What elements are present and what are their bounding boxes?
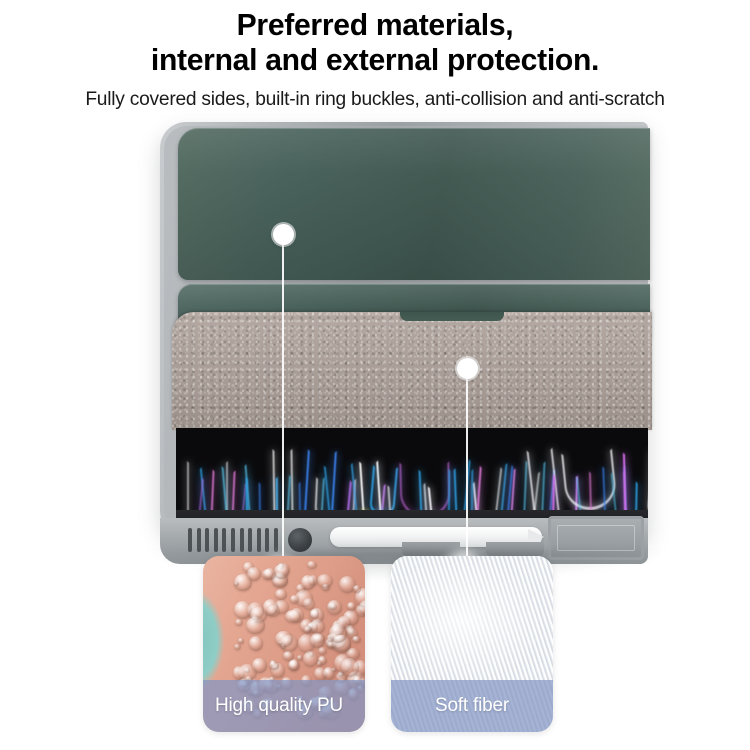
speaker-grille-icon [188,528,280,552]
callout-dot-exterior[interactable] [273,224,294,245]
callout-line-interior [466,376,468,573]
material-card-label: High quality PU [203,680,365,732]
folio-cover-top-panel [178,128,650,280]
product-photo [0,118,750,548]
flap-notch [400,312,504,321]
material-card-soft-fiber[interactable]: Soft fiber [391,556,553,732]
callout-line-exterior [282,242,284,578]
tablet-screen [176,428,648,513]
camera-port-icon [288,528,312,552]
material-card-high-quality-pu[interactable]: High quality PU [203,556,365,732]
page-headline: Preferred materials, internal and extern… [11,8,739,77]
page-subtitle: Fully covered sides, built-in ring buckl… [6,88,745,111]
material-card-label: Soft fiber [391,680,553,732]
product-feature-banner: Preferred materials, internal and extern… [0,0,750,750]
headline-line-2: internal and external protection. [11,43,739,78]
callout-dot-interior[interactable] [457,358,478,379]
microfiber-interior-flap [172,312,652,430]
headline-line-1: Preferred materials, [237,7,514,42]
